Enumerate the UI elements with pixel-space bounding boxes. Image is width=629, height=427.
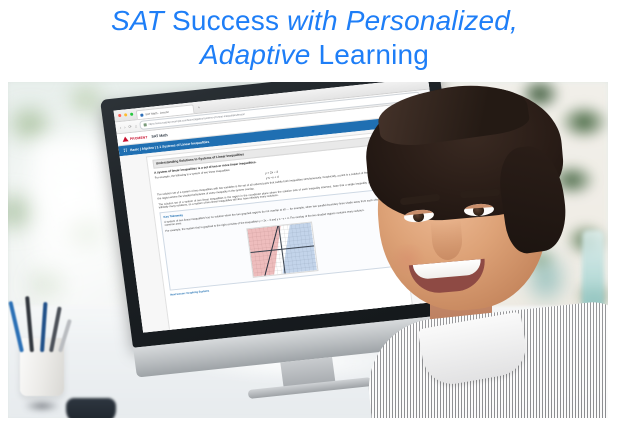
pens [14,294,70,352]
slide: SAT Success with Personalized, Adaptive … [0,0,629,427]
zoom-icon[interactable] [129,112,133,116]
traffic-lights[interactable] [118,112,133,117]
minimize-icon[interactable] [124,113,128,117]
title-learning: Learning [311,39,430,70]
back-icon[interactable]: ‹ [120,125,122,129]
apple-logo-icon [295,337,311,354]
site-logo[interactable]: PROMENT [122,134,148,142]
coffee-mug [66,398,116,418]
pen-icon [58,319,72,353]
pen-cup-shadow [16,398,68,414]
close-icon[interactable] [118,113,122,117]
new-tab-button[interactable]: + [198,106,201,110]
pen-icon [25,296,34,352]
pen-icon [40,302,47,352]
student-portrait [326,82,608,418]
forward-icon[interactable]: › [124,125,126,129]
title-with-personalized: with Personalized, [287,5,518,36]
grid-menu-icon[interactable] [124,149,128,153]
title-line-1: SAT Success with Personalized, [0,4,629,38]
site-brand-subtitle: SAT Math [151,133,168,139]
title-line-2: Adaptive Learning [0,38,629,72]
page-title: SAT Success with Personalized, Adaptive … [0,4,629,72]
title-success: Success [164,5,287,36]
favicon-icon [140,113,143,116]
reload-icon[interactable]: ⟳ [128,124,132,128]
browser-tab-label: SAT Math - Lesson [145,110,169,116]
lock-icon [144,123,147,126]
title-sat: SAT [111,5,164,36]
home-icon[interactable]: ⌂ [135,124,138,128]
inequality-graph [246,221,318,277]
logo-triangle-icon [122,136,129,142]
title-adaptive: Adaptive [200,39,311,70]
hero-photo: SAT Math - Lesson + ‹ › ⟳ ⌂ https://www.… [8,82,608,418]
site-brand-name: PROMENT [130,135,148,141]
